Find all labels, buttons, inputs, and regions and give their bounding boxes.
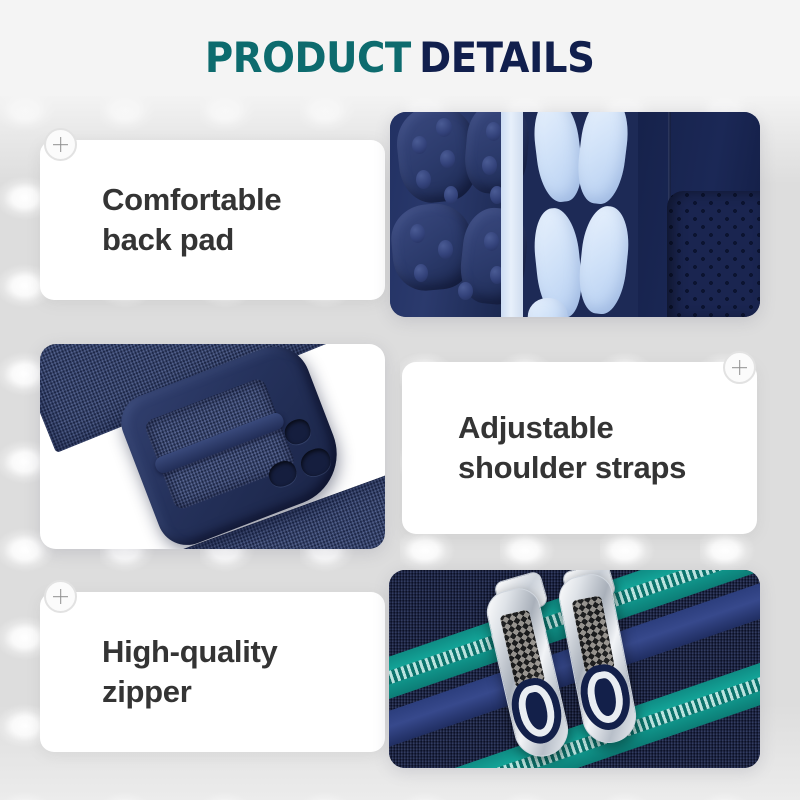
back-pad-nub	[482, 156, 497, 175]
back-pad-center-channel	[501, 112, 523, 317]
back-pad-mesh-pocket	[667, 191, 760, 317]
back-pad-photo	[390, 112, 760, 317]
back-pad-nub	[444, 186, 458, 204]
feature-photo-zipper	[389, 570, 760, 768]
page-header: PRODUCTDETAILS	[0, 34, 800, 82]
back-pad-nub	[436, 118, 452, 137]
feature-label-high-quality-zipper: High-quality zipper	[102, 632, 278, 713]
page-title: PRODUCTDETAILS	[205, 34, 595, 82]
back-pad-nub	[414, 264, 428, 282]
feature-card-high-quality-zipper[interactable]: High-quality zipper	[40, 592, 385, 752]
back-pad-nub	[416, 170, 431, 189]
page-title-part-product: PRODUCT	[205, 33, 411, 82]
back-pad-light-cushion	[575, 204, 632, 316]
buckle-vent-hole	[297, 445, 334, 480]
zipper-pull-pattern	[571, 595, 615, 673]
back-pad-light-cushion	[530, 112, 586, 204]
back-pad-nub	[440, 150, 455, 168]
back-pad-nub	[410, 224, 425, 243]
back-pad-nub	[458, 282, 473, 300]
zipper-pull-pattern	[499, 609, 545, 688]
plus-icon-adjustable-shoulder-straps[interactable]	[723, 351, 756, 384]
feature-card-adjustable-shoulder-straps[interactable]: Adjustable shoulder straps	[402, 362, 757, 534]
feature-label-adjustable-shoulder-straps: Adjustable shoulder straps	[458, 408, 686, 489]
plus-icon-comfortable-back-pad[interactable]	[44, 128, 77, 161]
shoulder-strap-buckle-photo	[40, 344, 385, 549]
feature-photo-shoulder-strap	[40, 344, 385, 549]
back-pad-light-cushion	[574, 112, 633, 206]
back-pad-nub	[412, 136, 427, 154]
back-pad-nub	[486, 122, 501, 141]
back-pad-nub	[438, 240, 453, 259]
back-pad-nub	[484, 232, 499, 251]
page-title-part-details: DETAILS	[419, 33, 594, 82]
feature-card-comfortable-back-pad[interactable]: Comfortable back pad	[40, 140, 385, 300]
zipper-pulls-photo	[389, 570, 760, 768]
feature-photo-back-pad	[390, 112, 760, 317]
feature-label-comfortable-back-pad: Comfortable back pad	[102, 180, 281, 261]
plus-icon-high-quality-zipper[interactable]	[44, 580, 77, 613]
zipper-pull-ring	[576, 660, 636, 734]
